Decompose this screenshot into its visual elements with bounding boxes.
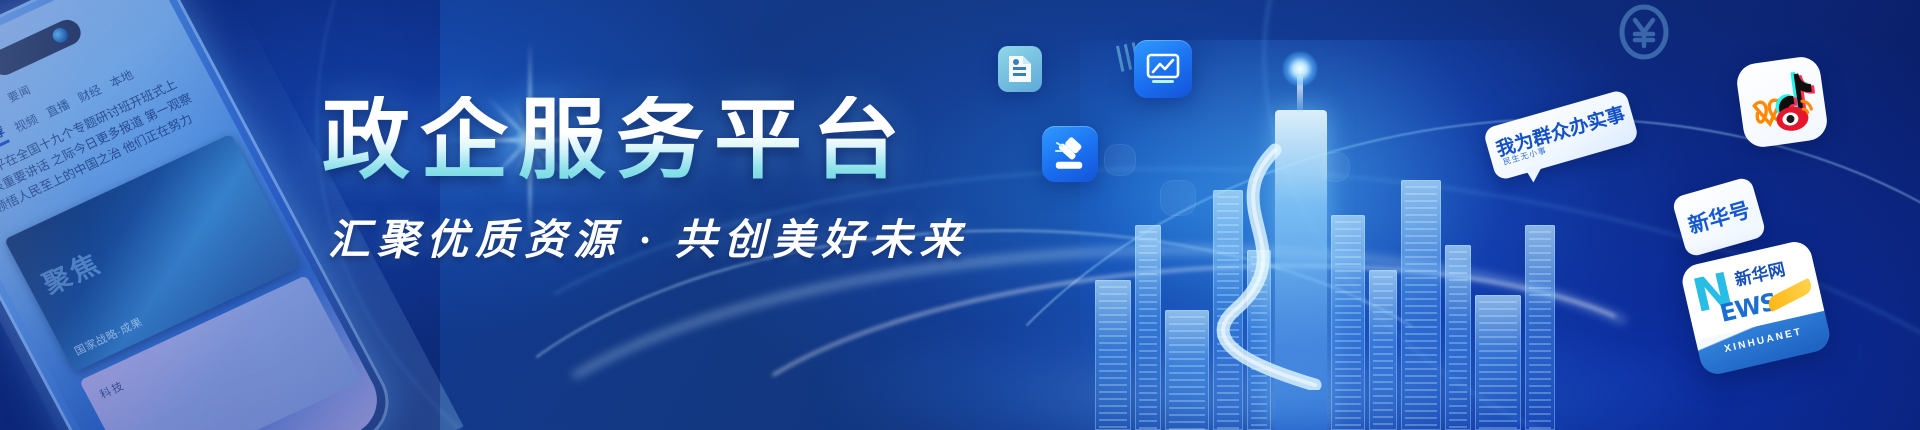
tower-light-icon <box>1283 52 1317 86</box>
page-subtitle: 汇聚优质资源 · 共创美好未来 <box>328 206 942 267</box>
square-ghost-2 <box>1160 180 1196 216</box>
page-title: 政企服务平台 <box>322 96 942 184</box>
xinhuahao-label: 新华号 <box>1685 194 1754 240</box>
yen-coin-icon <box>1618 4 1670 60</box>
phone-status-item: 要闻 <box>5 81 34 105</box>
phone-notch <box>0 16 85 80</box>
city-skyline <box>1095 60 1575 430</box>
square-ghost-1 <box>1104 144 1136 176</box>
banner-text-block: 政企服务平台 汇聚优质资源 · 共创美好未来 <box>322 96 942 267</box>
social-icons-badge[interactable] <box>1735 55 1830 150</box>
document-icon <box>998 46 1042 92</box>
phone-tab: 直播 <box>43 95 73 120</box>
gavel-icon <box>1042 126 1098 182</box>
phone-card-big-text: 聚焦 <box>35 242 108 302</box>
phone-tab-active: 推荐 <box>0 123 10 153</box>
phone-card-title: 国家战略·成果 <box>71 314 145 359</box>
phone-tab: 视频 <box>11 110 41 135</box>
square-ghost-3 <box>1320 152 1350 182</box>
central-tower <box>1275 110 1327 430</box>
phone-card2-title: 科技 <box>97 377 128 402</box>
promo-banner: 首页 推荐 要闻 关注 推荐 视频 直播 财经 本地 习近平在全国十九个专题研讨… <box>0 0 1920 430</box>
phone-tab: 本地 <box>106 66 136 91</box>
chart-icon <box>1134 40 1192 98</box>
phone-tab: 财经 <box>74 80 104 105</box>
